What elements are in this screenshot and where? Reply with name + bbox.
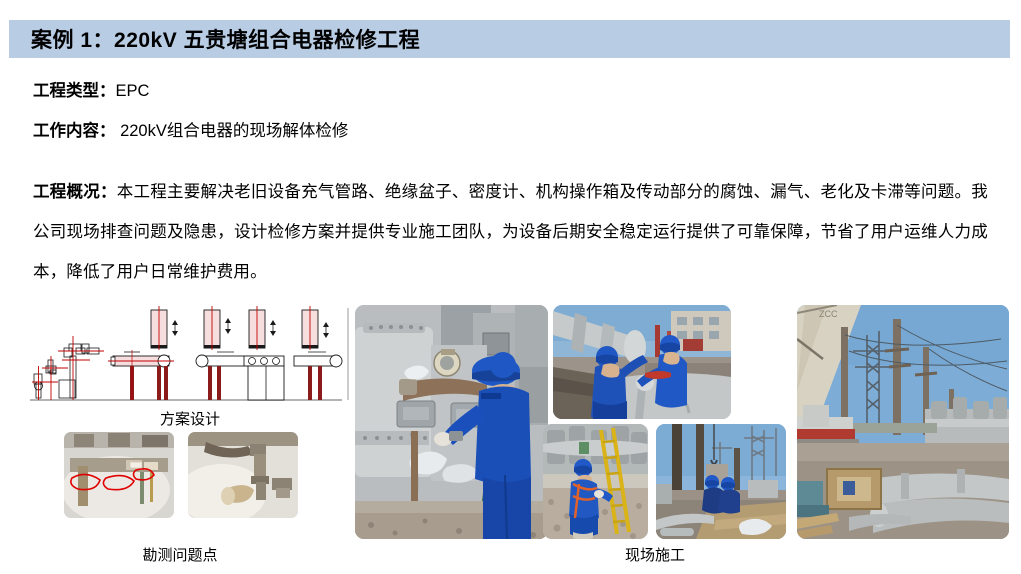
hoisting-work-photo-svg bbox=[656, 424, 786, 539]
caption-construction: 现场施工 bbox=[585, 544, 725, 565]
ladder-inspection-photo bbox=[543, 424, 648, 539]
field-work-content-label: 工作内容： bbox=[33, 122, 116, 140]
field-project-type-value: EPC bbox=[116, 82, 150, 100]
ladder-inspection-photo-svg bbox=[543, 424, 648, 539]
pipe-joint-work-photo bbox=[553, 305, 731, 419]
project-summary: 工程概况：本工程主要解决老旧设备充气管路、绝缘盆子、密度计、机构操作箱及传动部分… bbox=[33, 172, 988, 292]
corroded-valve-photo bbox=[188, 432, 298, 518]
field-work-content-value: 220kV组合电器的现场解体检修 bbox=[116, 122, 349, 140]
caption-design: 方案设计 bbox=[120, 408, 260, 429]
field-project-type: 工程类型：EPC bbox=[33, 80, 993, 102]
survey-defect-marked-photo-svg bbox=[64, 432, 174, 518]
project-summary-label: 工程概况： bbox=[33, 183, 117, 201]
svg-text:ZCC: ZCC bbox=[819, 309, 838, 319]
slide-title-bar: 案例 1：220kV 五贵塘组合电器检修工程 bbox=[9, 20, 1010, 58]
project-summary-paragraph: 工程概况：本工程主要解决老旧设备充气管路、绝缘盆子、密度计、机构操作箱及传动部分… bbox=[33, 172, 988, 292]
substation-site-photo-svg: ZCC bbox=[797, 305, 1009, 539]
survey-defect-marked-photo bbox=[64, 432, 174, 518]
field-project-type-label: 工程类型： bbox=[33, 82, 116, 100]
page-title: 案例 1：220kV 五贵塘组合电器检修工程 bbox=[9, 24, 420, 54]
info-block: 工程类型：EPC 工作内容： 220kV组合电器的现场解体检修 bbox=[33, 80, 993, 160]
corroded-valve-photo-svg bbox=[188, 432, 298, 518]
gis-disassembly-photo-svg bbox=[355, 305, 548, 539]
media-gallery: 方案设计 bbox=[0, 296, 1021, 574]
caption-survey: 勘测问题点 bbox=[110, 544, 250, 565]
hoisting-work-photo bbox=[656, 424, 786, 539]
project-summary-text: 本工程主要解决老旧设备充气管路、绝缘盆子、密度计、机构操作箱及传动部分的腐蚀、漏… bbox=[33, 183, 988, 281]
pipe-joint-work-photo-svg bbox=[553, 305, 731, 419]
scheme-design-drawing-svg bbox=[12, 304, 350, 406]
gis-disassembly-photo bbox=[355, 305, 548, 539]
scheme-design-drawing bbox=[12, 304, 350, 406]
field-work-content: 工作内容： 220kV组合电器的现场解体检修 bbox=[33, 120, 993, 142]
substation-site-photo: ZCC bbox=[797, 305, 1009, 539]
